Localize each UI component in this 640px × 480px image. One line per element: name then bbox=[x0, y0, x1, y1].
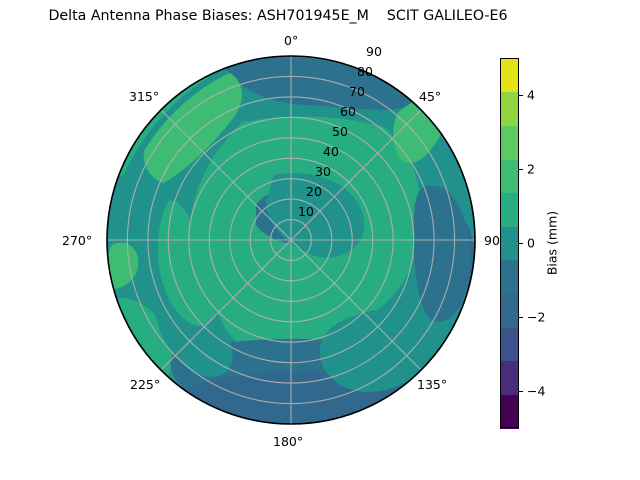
r-label-20: 20 bbox=[306, 184, 322, 199]
colorbar-axis-label: Bias (mm) bbox=[545, 211, 560, 275]
theta-label-270: 270° bbox=[62, 233, 92, 248]
colorbar-tick-3 bbox=[519, 317, 523, 318]
theta-label-135: 135° bbox=[417, 377, 447, 392]
r-label-90: 90 bbox=[366, 44, 382, 59]
theta-label-45: 45° bbox=[419, 89, 441, 104]
theta-label-180: 180° bbox=[273, 434, 303, 449]
polar-axes: 0° 45° 90 135° 180° 225° 270° 315° 10 20… bbox=[106, 55, 476, 425]
colorbar-ticks: 420−2−4 bbox=[500, 58, 620, 428]
polar-grid bbox=[107, 56, 475, 424]
theta-label-315: 315° bbox=[129, 89, 159, 104]
r-label-60: 60 bbox=[340, 104, 356, 119]
colorbar-ticklabel-2: 0 bbox=[527, 236, 535, 251]
theta-label-90: 90 bbox=[484, 233, 500, 248]
r-label-50: 50 bbox=[332, 124, 348, 139]
colorbar-ticklabel-4: −4 bbox=[527, 384, 545, 399]
page-title: Delta Antenna Phase Biases: ASH701945E_M… bbox=[0, 8, 556, 24]
colorbar-ticklabel-3: −2 bbox=[527, 310, 545, 325]
colorbar-ticklabel-0: 4 bbox=[527, 88, 535, 103]
figure-canvas: Delta Antenna Phase Biases: ASH701945E_M… bbox=[0, 0, 640, 480]
colorbar-tick-4 bbox=[519, 391, 523, 392]
polar-contour-plot bbox=[106, 55, 476, 425]
colorbar-ticklabel-1: 2 bbox=[527, 162, 535, 177]
r-label-80: 80 bbox=[357, 64, 373, 79]
r-label-40: 40 bbox=[323, 144, 339, 159]
r-label-10: 10 bbox=[298, 204, 314, 219]
colorbar-tick-1 bbox=[519, 169, 523, 170]
theta-label-225: 225° bbox=[130, 377, 160, 392]
colorbar-tick-2 bbox=[519, 243, 523, 244]
r-label-30: 30 bbox=[315, 164, 331, 179]
theta-label-0: 0° bbox=[284, 33, 298, 48]
r-label-70: 70 bbox=[349, 84, 365, 99]
colorbar-tick-0 bbox=[519, 95, 523, 96]
